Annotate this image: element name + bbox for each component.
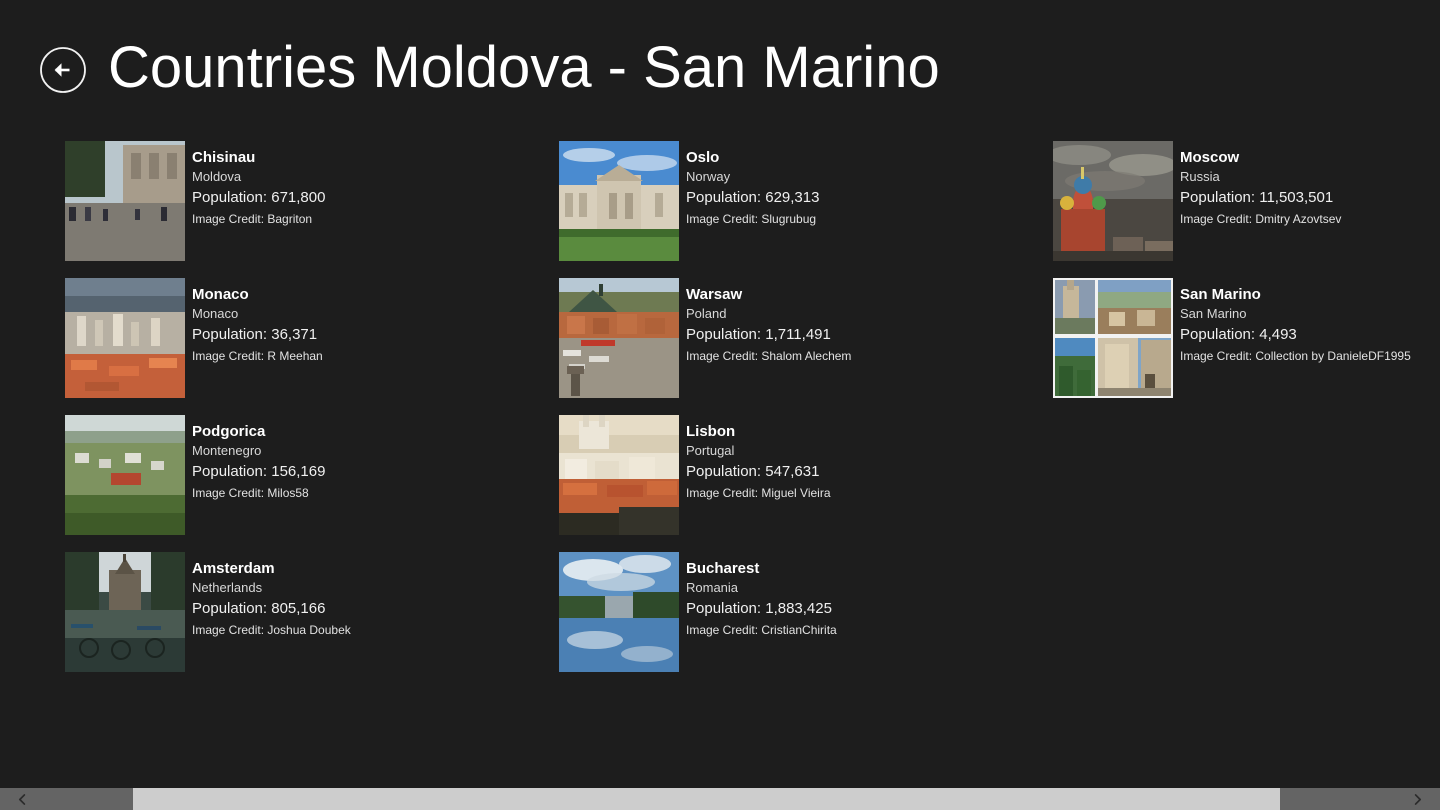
lisbon-thumbnail[interactable] — [559, 415, 679, 535]
city-card-text: MonacoMonacoPopulation: 36,371Image Cred… — [192, 278, 323, 367]
moscow-thumbnail[interactable] — [1053, 141, 1173, 261]
city-name: Amsterdam — [192, 559, 351, 578]
city-card-text: OsloNorwayPopulation: 629,313Image Credi… — [686, 141, 819, 230]
city-card-text: ChisinauMoldovaPopulation: 671,800Image … — [192, 141, 325, 230]
city-card-text: LisbonPortugalPopulation: 547,631Image C… — [686, 415, 831, 504]
city-population: Population: 36,371 — [192, 324, 323, 346]
city-card-text: WarsawPolandPopulation: 1,711,491Image C… — [686, 278, 851, 367]
city-name: Podgorica — [192, 422, 325, 441]
city-country: Monaco — [192, 304, 323, 324]
podgorica-thumbnail[interactable] — [65, 415, 185, 535]
city-name: Chisinau — [192, 148, 325, 167]
city-card[interactable]: PodgoricaMontenegroPopulation: 156,169Im… — [65, 415, 559, 552]
city-image-credit: Image Credit: Dmitry Azovtsev — [1180, 209, 1341, 230]
city-card[interactable]: MoscowRussiaPopulation: 11,503,501Image … — [1053, 141, 1440, 278]
city-image-credit: Image Credit: Miguel Vieira — [686, 483, 831, 504]
city-name: Lisbon — [686, 422, 831, 441]
city-image-credit: Image Credit: Milos58 — [192, 483, 325, 504]
city-country: Romania — [686, 578, 837, 598]
back-arrow-circle-icon[interactable] — [38, 45, 88, 95]
city-population: Population: 547,631 — [686, 461, 831, 483]
city-name: Bucharest — [686, 559, 837, 578]
city-country: Montenegro — [192, 441, 325, 461]
app-root: Countries Moldova - San Marino ChisinauM… — [0, 0, 1440, 810]
city-card[interactable]: BucharestRomaniaPopulation: 1,883,425Ima… — [559, 552, 1053, 689]
chevron-left-icon[interactable] — [0, 788, 45, 810]
city-country: Portugal — [686, 441, 831, 461]
city-name: San Marino — [1180, 285, 1411, 304]
chevron-right-icon[interactable] — [1395, 788, 1440, 810]
city-country: Russia — [1180, 167, 1341, 187]
city-country: San Marino — [1180, 304, 1411, 324]
city-name: Monaco — [192, 285, 323, 304]
city-grid: ChisinauMoldovaPopulation: 671,800Image … — [65, 141, 1440, 741]
scrollbar-track[interactable] — [45, 788, 1395, 810]
city-image-credit: Image Credit: Joshua Doubek — [192, 620, 351, 641]
city-card-text: San MarinoSan MarinoPopulation: 4,493Ima… — [1180, 278, 1411, 367]
city-image-credit: Image Credit: Collection by DanieleDF199… — [1180, 346, 1411, 367]
city-population: Population: 805,166 — [192, 598, 351, 620]
monaco-thumbnail[interactable] — [65, 278, 185, 398]
city-card-text: MoscowRussiaPopulation: 11,503,501Image … — [1180, 141, 1341, 230]
city-population: Population: 1,711,491 — [686, 324, 851, 346]
city-card[interactable]: MonacoMonacoPopulation: 36,371Image Cred… — [65, 278, 559, 415]
city-card[interactable]: WarsawPolandPopulation: 1,711,491Image C… — [559, 278, 1053, 415]
city-name: Moscow — [1180, 148, 1341, 167]
city-card-text: PodgoricaMontenegroPopulation: 156,169Im… — [192, 415, 325, 504]
city-population: Population: 629,313 — [686, 187, 819, 209]
city-population: Population: 671,800 — [192, 187, 325, 209]
city-card-text: AmsterdamNetherlandsPopulation: 805,166I… — [192, 552, 351, 641]
city-country: Moldova — [192, 167, 325, 187]
page-title: Countries Moldova - San Marino — [108, 39, 940, 97]
horizontal-scrollbar[interactable] — [0, 788, 1440, 810]
city-image-credit: Image Credit: Slugrubug — [686, 209, 819, 230]
city-population: Population: 156,169 — [192, 461, 325, 483]
city-country: Netherlands — [192, 578, 351, 598]
city-card[interactable]: LisbonPortugalPopulation: 547,631Image C… — [559, 415, 1053, 552]
city-card[interactable]: ChisinauMoldovaPopulation: 671,800Image … — [65, 141, 559, 278]
city-country: Norway — [686, 167, 819, 187]
city-card[interactable]: AmsterdamNetherlandsPopulation: 805,166I… — [65, 552, 559, 689]
page-header: Countries Moldova - San Marino — [0, 0, 1440, 132]
warsaw-thumbnail[interactable] — [559, 278, 679, 398]
city-population: Population: 4,493 — [1180, 324, 1411, 346]
city-card[interactable]: San MarinoSan MarinoPopulation: 4,493Ima… — [1053, 278, 1440, 415]
city-image-credit: Image Credit: Shalom Alechem — [686, 346, 851, 367]
scrollbar-thumb[interactable] — [133, 788, 1280, 810]
city-image-credit: Image Credit: CristianChirita — [686, 620, 837, 641]
san-marino-collage-thumbnail[interactable] — [1053, 278, 1173, 398]
amsterdam-thumbnail[interactable] — [65, 552, 185, 672]
city-name: Warsaw — [686, 285, 851, 304]
bucharest-thumbnail[interactable] — [559, 552, 679, 672]
city-card-text: BucharestRomaniaPopulation: 1,883,425Ima… — [686, 552, 837, 641]
oslo-thumbnail[interactable] — [559, 141, 679, 261]
city-population: Population: 11,503,501 — [1180, 187, 1341, 209]
city-population: Population: 1,883,425 — [686, 598, 837, 620]
city-image-credit: Image Credit: Bagriton — [192, 209, 325, 230]
city-country: Poland — [686, 304, 851, 324]
city-name: Oslo — [686, 148, 819, 167]
city-image-credit: Image Credit: R Meehan — [192, 346, 323, 367]
city-card[interactable]: OsloNorwayPopulation: 629,313Image Credi… — [559, 141, 1053, 278]
chisinau-thumbnail[interactable] — [65, 141, 185, 261]
